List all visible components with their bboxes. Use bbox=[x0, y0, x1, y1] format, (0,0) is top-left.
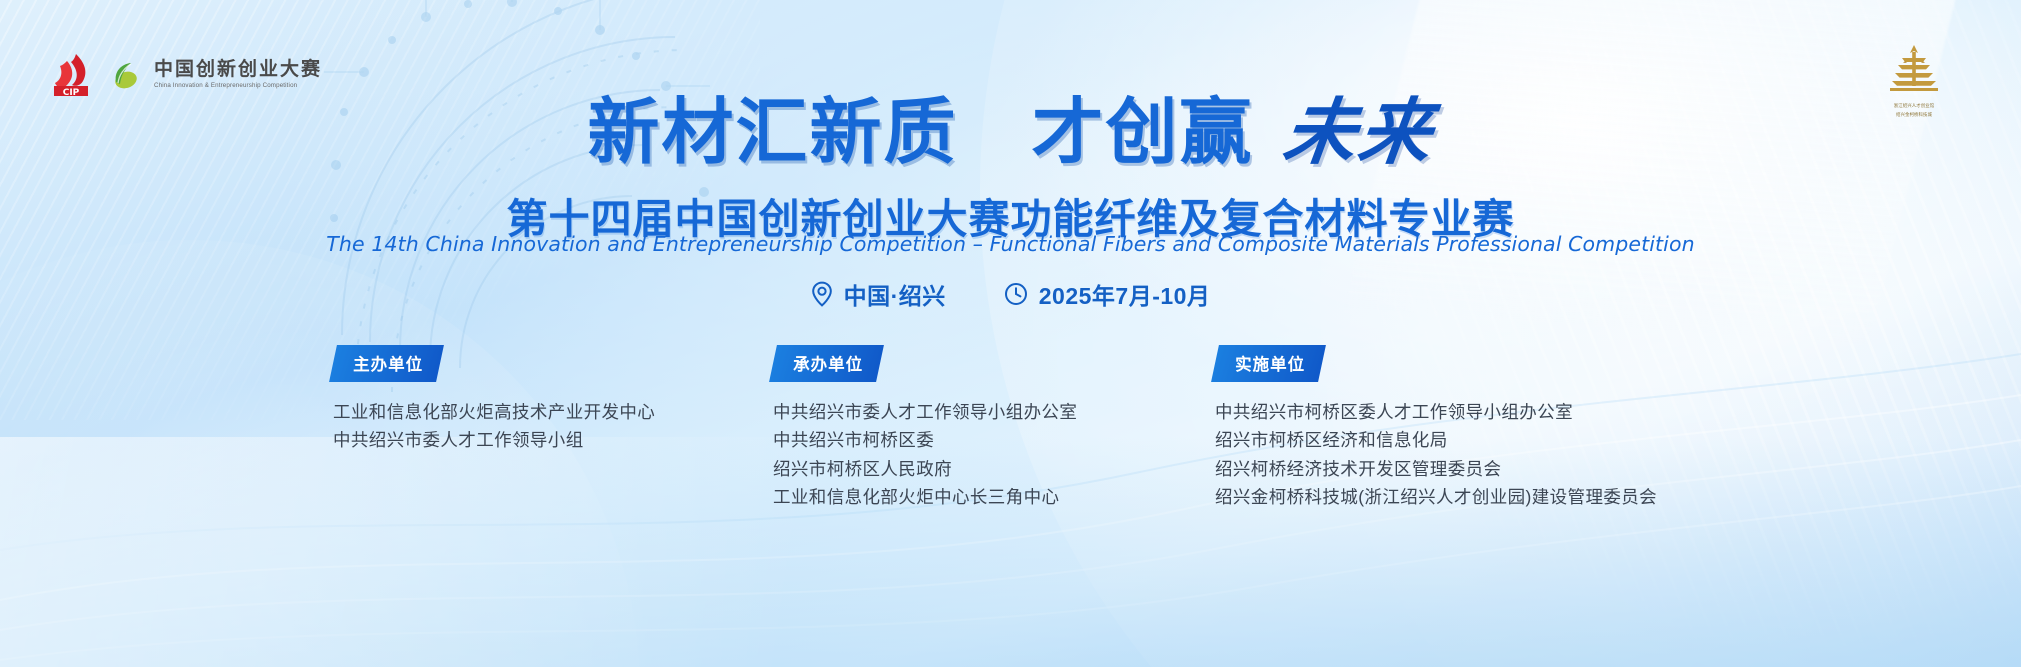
organizer-line: 中共绍兴市委人才工作领导小组 bbox=[333, 426, 655, 454]
organizer-line: 绍兴市柯桥区经济和信息化局 bbox=[1215, 426, 1657, 454]
organizer-badge-host-label: 主办单位 bbox=[353, 351, 423, 375]
clock-icon bbox=[1004, 282, 1028, 306]
organizer-line: 绍兴柯桥经济技术开发区管理委员会 bbox=[1215, 455, 1657, 483]
event-title-en: The 14th China Innovation and Entreprene… bbox=[0, 232, 2021, 256]
organizer-badge-coorganizer: 承办单位 bbox=[769, 345, 884, 382]
event-meta: 中国·绍兴 2025年7月-10月 bbox=[0, 277, 2021, 311]
headline-part2: 才创赢 bbox=[1032, 90, 1254, 174]
organizer-group-executor: 实施单位 中共绍兴市柯桥区委人才工作领导小组办公室 绍兴市柯桥区经济和信息化局 … bbox=[1215, 345, 1657, 511]
meta-location-label: 中国·绍兴 bbox=[844, 277, 946, 311]
headline-part3: 未来 bbox=[1279, 96, 1438, 168]
organizer-line: 工业和信息化部火炬高技术产业开发中心 bbox=[333, 398, 655, 426]
cip-leaf-icon bbox=[110, 60, 140, 90]
headline-part1: 新材汇新质 bbox=[587, 90, 957, 174]
location-pin-icon bbox=[811, 281, 833, 307]
organizer-badge-host: 主办单位 bbox=[329, 345, 444, 382]
brand-logos: CIP 中国创新创业大赛 China Innovation & Entrepre… bbox=[52, 52, 322, 98]
organizer-line: 绍兴市柯桥区人民政府 bbox=[773, 455, 1077, 483]
emblem-icon bbox=[1881, 44, 1947, 96]
organizer-badge-executor-label: 实施单位 bbox=[1235, 351, 1305, 375]
organizers: 主办单位 工业和信息化部火炬高技术产业开发中心 中共绍兴市委人才工作领导小组 承… bbox=[0, 345, 2021, 475]
brand-text: 中国创新创业大赛 China Innovation & Entrepreneur… bbox=[154, 60, 322, 89]
organizer-line: 绍兴金柯桥科技城(浙江绍兴人才创业园)建设管理委员会 bbox=[1215, 483, 1657, 511]
organizer-host-list: 工业和信息化部火炬高技术产业开发中心 中共绍兴市委人才工作领导小组 bbox=[333, 398, 655, 455]
organizer-badge-executor: 实施单位 bbox=[1211, 345, 1326, 382]
organizer-line: 中共绍兴市柯桥区委 bbox=[773, 426, 1077, 454]
cip-flame-icon: CIP bbox=[52, 52, 96, 98]
event-banner: CIP 中国创新创业大赛 China Innovation & Entrepre… bbox=[0, 0, 2021, 667]
cip-leaf-logo bbox=[110, 60, 140, 90]
headline: 新材汇新质 才创赢 未来 bbox=[0, 96, 2021, 169]
organizer-line: 工业和信息化部火炬中心长三角中心 bbox=[773, 483, 1077, 511]
organizer-group-coorganizer: 承办单位 中共绍兴市委人才工作领导小组办公室 中共绍兴市柯桥区委 绍兴市柯桥区人… bbox=[773, 345, 1077, 511]
meta-date-label: 2025年7月-10月 bbox=[1039, 277, 1211, 311]
meta-location: 中国·绍兴 bbox=[811, 277, 946, 311]
meta-date: 2025年7月-10月 bbox=[1004, 277, 1211, 311]
cip-flame-logo: CIP bbox=[52, 52, 96, 98]
organizer-group-host: 主办单位 工业和信息化部火炬高技术产业开发中心 中共绍兴市委人才工作领导小组 bbox=[333, 345, 655, 455]
organizer-line: 中共绍兴市柯桥区委人才工作领导小组办公室 bbox=[1215, 398, 1657, 426]
organizer-line: 中共绍兴市委人才工作领导小组办公室 bbox=[773, 398, 1077, 426]
organizer-badge-coorganizer-label: 承办单位 bbox=[793, 351, 863, 375]
organizer-coorganizer-list: 中共绍兴市委人才工作领导小组办公室 中共绍兴市柯桥区委 绍兴市柯桥区人民政府 工… bbox=[773, 398, 1077, 511]
organizer-executor-list: 中共绍兴市柯桥区委人才工作领导小组办公室 绍兴市柯桥区经济和信息化局 绍兴柯桥经… bbox=[1215, 398, 1657, 511]
brand-title-en: China Innovation & Entrepreneurship Comp… bbox=[154, 83, 322, 89]
brand-title-cn: 中国创新创业大赛 bbox=[154, 60, 322, 79]
